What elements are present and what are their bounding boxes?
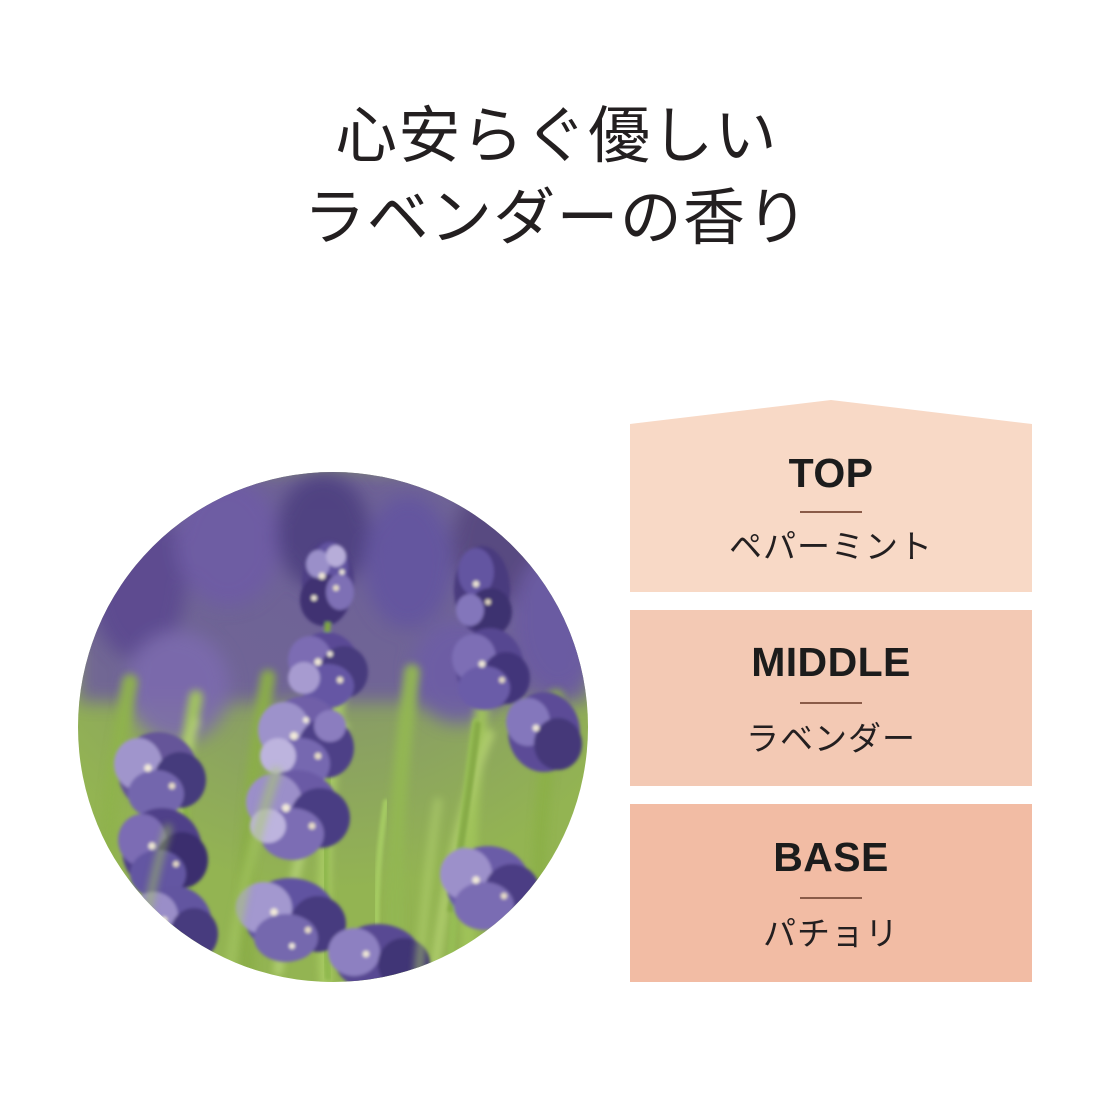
note-top-name: ペパーミント bbox=[729, 530, 933, 563]
page-title: 心安らぐ優しい ラベンダーの香り bbox=[0, 96, 1113, 261]
page-title-line-2: ラベンダーの香り bbox=[0, 178, 1113, 260]
note-top-title: TOP bbox=[789, 453, 874, 494]
note-middle-name: ラベンダー bbox=[746, 722, 916, 755]
note-base-title: BASE bbox=[773, 837, 889, 878]
note-block-top: TOP ペパーミント bbox=[630, 400, 1032, 592]
note-block-base: BASE パチョリ bbox=[630, 804, 1032, 982]
note-middle-title: MIDDLE bbox=[751, 642, 911, 683]
lavender-field-photo bbox=[78, 472, 588, 982]
lavender-field-illustration bbox=[78, 472, 588, 982]
note-block-middle: MIDDLE ラベンダー bbox=[630, 610, 1032, 786]
note-top-divider bbox=[800, 511, 862, 513]
fragrance-notes-pyramid: TOP ペパーミント MIDDLE ラベンダー BASE パチョリ bbox=[630, 400, 1032, 982]
note-base-name: パチョリ bbox=[763, 917, 899, 950]
note-base-divider bbox=[800, 897, 862, 899]
note-middle-divider bbox=[800, 702, 862, 704]
page-title-line-1: 心安らぐ優しい bbox=[0, 96, 1113, 178]
